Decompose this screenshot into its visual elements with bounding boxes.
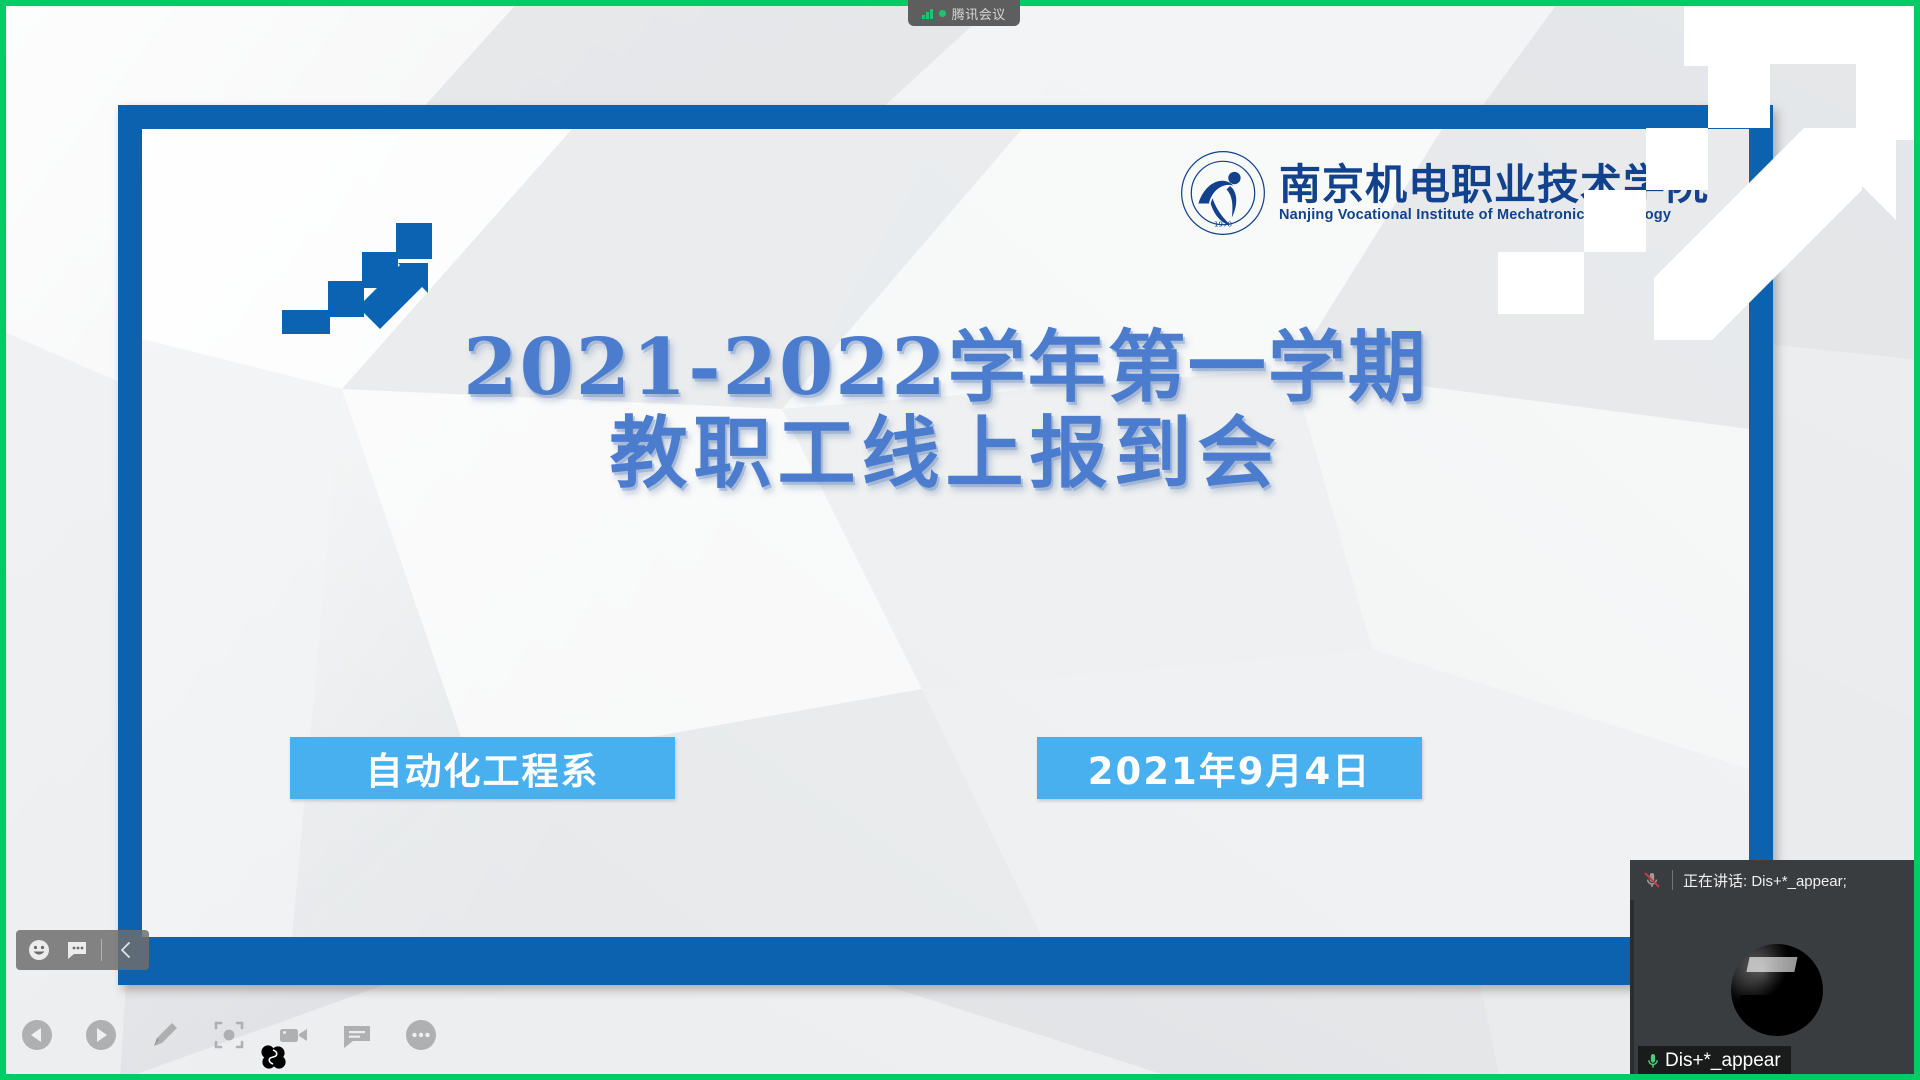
avatar	[1731, 944, 1823, 1036]
previous-slide-icon[interactable]	[18, 1016, 56, 1054]
slide-content: 1978 南京机电职业技术学院 Nanjing Vocational Insti…	[142, 129, 1749, 937]
speaking-status-bar: 正在讲话: Dis+*_appear;	[1630, 860, 1920, 900]
pen-icon[interactable]	[146, 1016, 184, 1054]
chevron-left-icon[interactable]	[109, 933, 143, 967]
more-icon[interactable]	[402, 1016, 440, 1054]
float-toolbar[interactable]	[16, 930, 149, 970]
chat-bubble-icon[interactable]	[60, 933, 94, 967]
date-chip: 2021年9月4日	[1037, 737, 1422, 799]
blue-stair-step-arrow-icon	[282, 209, 432, 334]
slide-title-line-1: 2021-2022学年第一学期	[142, 324, 1749, 411]
school-name-cn: 南京机电职业技术学院	[1279, 164, 1709, 206]
green-status-dot-icon	[939, 10, 946, 17]
ppt-control-toolbar[interactable]	[18, 1016, 440, 1054]
video-feed[interactable]: Dis+*_appear	[1634, 900, 1920, 1080]
meeting-status-pill[interactable]: 腾讯会议	[908, 0, 1020, 26]
pinwheel-busy-cursor-icon	[258, 1042, 288, 1072]
school-logo: 1978 南京机电职业技术学院 Nanjing Vocational Insti…	[1179, 149, 1709, 237]
school-emblem-icon: 1978	[1179, 149, 1267, 237]
screen-share-view: 1978 南京机电职业技术学院 Nanjing Vocational Insti…	[0, 0, 1920, 1080]
emblem-year: 1978	[1214, 219, 1232, 228]
school-name-en: Nanjing Vocational Institute of Mechatro…	[1279, 208, 1709, 223]
meeting-app-label: 腾讯会议	[952, 4, 1006, 23]
header-divider	[1672, 870, 1673, 890]
speaking-status-text: 正在讲话: Dis+*_appear;	[1683, 870, 1847, 891]
toolbar-divider	[101, 939, 102, 961]
slide-title-block: 2021-2022学年第一学期 教职工线上报到会	[142, 324, 1749, 499]
presentation-slide: 1978 南京机电职业技术学院 Nanjing Vocational Insti…	[118, 105, 1773, 985]
mic-muted-icon	[1642, 870, 1662, 890]
participant-video-panel[interactable]: 正在讲话: Dis+*_appear; Dis+*_appear	[1630, 860, 1920, 1080]
school-logo-text: 南京机电职业技术学院 Nanjing Vocational Institute …	[1279, 164, 1709, 223]
signal-bars-icon	[922, 8, 933, 19]
slide-title-line-2: 教职工线上报到会	[142, 411, 1749, 498]
participant-name-badge: Dis+*_appear	[1638, 1046, 1791, 1076]
emoji-icon[interactable]	[22, 933, 56, 967]
department-chip: 自动化工程系	[290, 737, 675, 799]
chat-icon[interactable]	[338, 1016, 376, 1054]
mic-active-icon	[1644, 1051, 1662, 1071]
spotlight-icon[interactable]	[210, 1016, 248, 1054]
next-slide-icon[interactable]	[82, 1016, 120, 1054]
participant-name-text: Dis+*_appear	[1665, 1050, 1781, 1072]
